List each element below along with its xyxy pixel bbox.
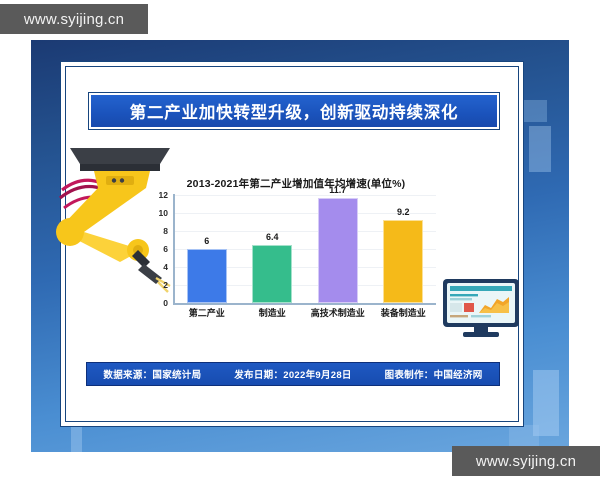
y-tick: 0 bbox=[163, 298, 168, 308]
chart-y-axis: 12 10 8 6 4 2 0 bbox=[148, 195, 172, 303]
chart-axis-line-horizontal bbox=[173, 303, 436, 305]
footer-credit: 图表制作：中国经济网 bbox=[385, 367, 483, 381]
footer-bar: 数据来源：国家统计局 发布日期：2022年9月28日 图表制作：中国经济网 bbox=[86, 362, 500, 386]
decor-bar-right-bottom bbox=[509, 425, 539, 447]
headline-text: 第二产业加快转型升级，创新驱动持续深化 bbox=[91, 95, 497, 127]
chart-bar-value: 11.7 bbox=[315, 185, 361, 195]
chart-bar-item: 6.4 bbox=[249, 195, 295, 303]
chart-bar bbox=[383, 220, 423, 303]
poster-screenshot: 第二产业加快转型升级，创新驱动持续深化 bbox=[0, 0, 600, 480]
chart-bar bbox=[252, 245, 292, 303]
headline-banner: 第二产业加快转型升级，创新驱动持续深化 bbox=[88, 92, 500, 130]
chart-bar-value: 6.4 bbox=[249, 232, 295, 242]
chart-bar-value: 6 bbox=[184, 236, 230, 246]
decor-bar-right-upper bbox=[529, 126, 551, 172]
watermark-top-left: www.syijing.cn bbox=[0, 4, 148, 34]
chart-bar-item: 6 bbox=[184, 195, 230, 303]
desktop-monitor-icon bbox=[441, 277, 521, 339]
y-tick: 4 bbox=[163, 262, 168, 272]
chart-bar-value: 9.2 bbox=[380, 207, 426, 217]
y-tick: 6 bbox=[163, 244, 168, 254]
chart-title: 2013-2021年第二产业增加值年均增速(单位%) bbox=[148, 176, 444, 191]
y-tick: 8 bbox=[163, 226, 168, 236]
footer-date: 发布日期：2022年9月28日 bbox=[234, 367, 351, 381]
y-tick: 10 bbox=[159, 208, 168, 218]
y-tick: 2 bbox=[163, 280, 168, 290]
chart-x-label: 装备制造业 bbox=[372, 306, 434, 319]
chart-x-label: 第二产业 bbox=[176, 306, 238, 319]
watermark-bottom-right: www.syijing.cn bbox=[452, 446, 600, 476]
chart-x-axis: 第二产业制造业高技术制造业装备制造业 bbox=[174, 306, 436, 319]
chart-x-label: 制造业 bbox=[241, 306, 303, 319]
bar-chart: 2013-2021年第二产业增加值年均增速(单位%) 12 10 8 6 4 2… bbox=[148, 176, 444, 328]
chart-bar-item: 9.2 bbox=[380, 195, 426, 303]
chart-bar bbox=[187, 249, 227, 303]
chart-x-label: 高技术制造业 bbox=[307, 306, 369, 319]
decor-bar-right-top bbox=[517, 100, 547, 122]
chart-bar-item: 11.7 bbox=[315, 195, 361, 303]
chart-bar bbox=[318, 198, 358, 303]
y-tick: 12 bbox=[159, 190, 168, 200]
footer-source: 数据来源：国家统计局 bbox=[103, 367, 201, 381]
chart-bars: 66.411.79.2 bbox=[174, 195, 436, 303]
